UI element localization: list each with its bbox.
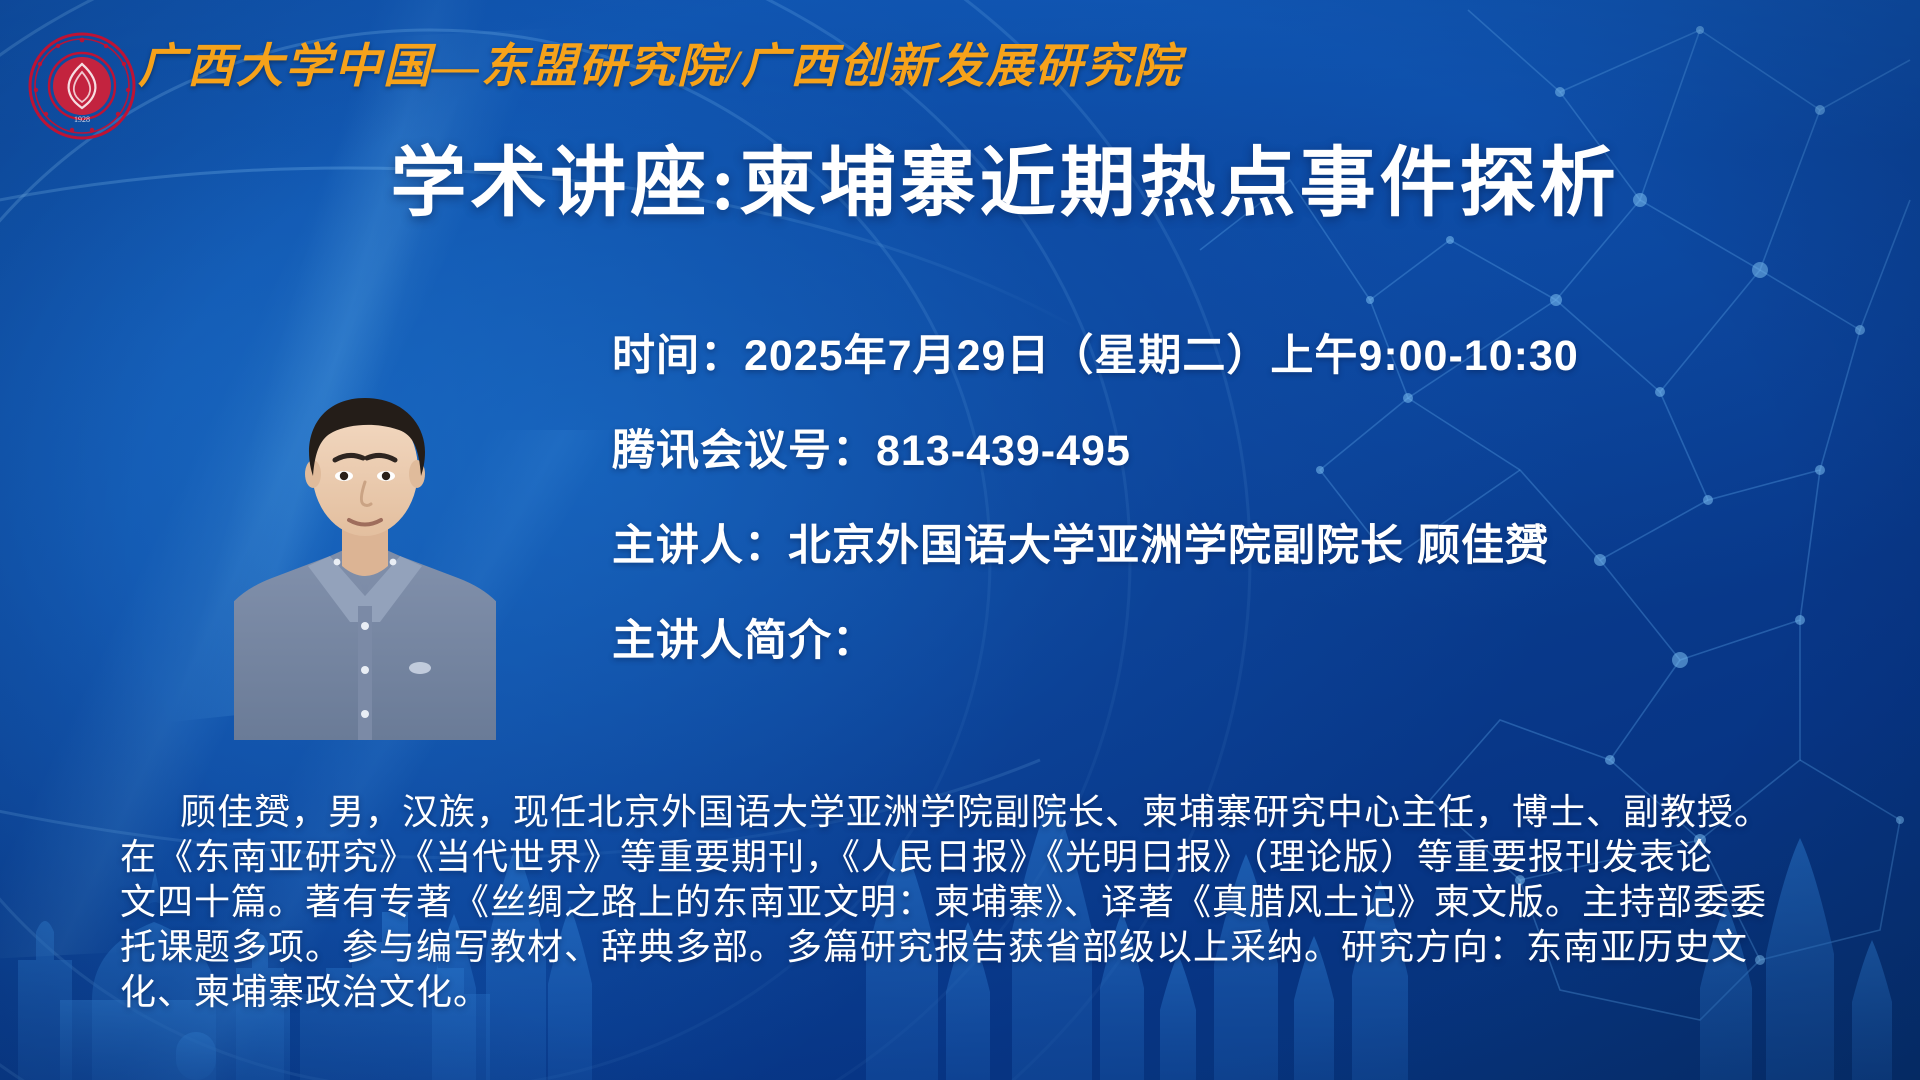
page-title: 学术讲座:柬埔寨近期热点事件探析 — [0, 146, 1920, 222]
bio-line-2: 在《东南亚研究》《当代世界》等重要期刊，《人民日报》《光明日报》（理论版）等重要… — [120, 835, 1810, 880]
speaker-portrait — [234, 350, 496, 740]
bio-line-5: 化、柬埔寨政治文化。 — [120, 970, 1810, 1015]
poster-header: 1928 广西大学中国—东盟研究院/广西创新发展研究院 — [0, 0, 1920, 140]
lecture-info-block: 时间：2025年7月29日（星期二）上午9:00-10:30 腾讯会议号：813… — [612, 335, 1872, 663]
meeting-id: 腾讯会议号：813-439-495 — [612, 430, 1872, 473]
bio-line-3: 文四十篇。著有专著《丝绸之路上的东南亚文明：柬埔寨》、译著《真腊风土记》柬文版。… — [120, 880, 1810, 925]
bio-line-1: 顾佳赟，男，汉族，现任北京外国语大学亚洲学院副院长、柬埔寨研究中心主任，博士、副… — [120, 790, 1810, 835]
organization-title: 广西大学中国—东盟研究院/广西创新发展研究院 — [138, 44, 1182, 91]
guangxi-university-seal-icon: 1928 — [28, 32, 136, 140]
speaker-biography: 顾佳赟，男，汉族，现任北京外国语大学亚洲学院副院长、柬埔寨研究中心主任，博士、副… — [120, 790, 1810, 1015]
lecture-time: 时间：2025年7月29日（星期二）上午9:00-10:30 — [612, 335, 1872, 378]
lecture-poster: 1928 广西大学中国—东盟研究院/广西创新发展研究院 学术讲座:柬埔寨近期热点… — [0, 0, 1920, 1080]
bio-line-4: 托课题多项。参与编写教材、辞典多部。多篇研究报告获省部级以上采纳。研究方向：东南… — [120, 925, 1810, 970]
bio-heading: 主讲人简介： — [612, 620, 1872, 663]
speaker-line: 主讲人：北京外国语大学亚洲学院副院长 顾佳赟 — [612, 525, 1872, 568]
svg-text:1928: 1928 — [74, 115, 90, 124]
